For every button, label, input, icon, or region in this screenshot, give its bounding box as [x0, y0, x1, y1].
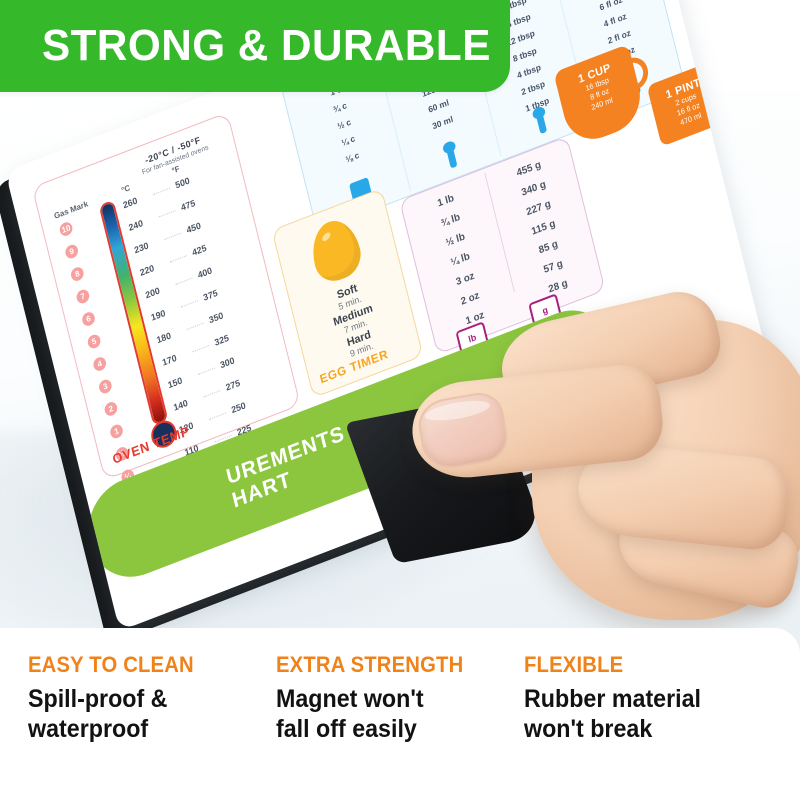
gas-mark-badge: 6 [81, 310, 96, 327]
feature-body: Rubber materialwon't break [524, 685, 742, 744]
feature-heading: EASY TO CLEAN [28, 652, 243, 678]
gas-mark-badge: 1 [109, 423, 124, 440]
feature-column-easy-to-clean: EASY TO CLEAN Spill-proof &waterproof [28, 652, 276, 800]
gas-mark-badge: 9 [64, 243, 79, 260]
oven-col-header-fahrenheit: °F [171, 164, 181, 176]
oven-col-header-celsius: °C [120, 183, 131, 195]
feature-heading: EXTRA STRENGTH [276, 652, 491, 678]
feature-body: Spill-proof &waterproof [28, 685, 246, 744]
feature-column-flexible: FLEXIBLE Rubber materialwon't break [524, 652, 772, 800]
measuring-spoon-icon [446, 147, 457, 169]
header-banner: STRONG & DURABLE [0, 0, 510, 92]
egg-icon [306, 213, 365, 287]
hand-photo [382, 300, 800, 640]
banner-title: STRONG & DURABLE [42, 21, 491, 71]
gas-mark-badge: 4 [92, 355, 107, 372]
product-marketing-image: 4 c 2 c 1 c ¾ c ½ c ¼ c ⅛ c 950 ml 470 m… [0, 0, 800, 800]
tbsp-note: 1 tbsp = 15 ml [686, 0, 772, 39]
bottle-icon [713, 0, 756, 3]
fahrenheit-value: 500 [174, 175, 190, 190]
gas-mark-badge: 5 [86, 333, 101, 350]
feature-panel: EASY TO CLEAN Spill-proof &waterproof EX… [0, 628, 800, 800]
gas-mark-badge: 3 [98, 378, 113, 395]
gas-mark-badge: 2 [103, 400, 118, 417]
oven-temp-panel: -20°C / -50°F For fan-assisted ovens Gas… [32, 112, 301, 481]
product-title: UREMENTS HART [224, 422, 353, 513]
feature-body: Magnet won'tfall off easily [276, 685, 494, 744]
gas-mark-badge: 7 [75, 288, 90, 305]
gas-mark-badge: 8 [70, 265, 85, 282]
gas-mark-badge: 10 [58, 220, 73, 237]
measuring-spoon-small-icon [536, 112, 547, 134]
celsius-value: 260 [122, 195, 138, 210]
feature-column-extra-strength: EXTRA STRENGTH Magnet won'tfall off easi… [276, 652, 524, 800]
feature-heading: FLEXIBLE [524, 652, 739, 678]
